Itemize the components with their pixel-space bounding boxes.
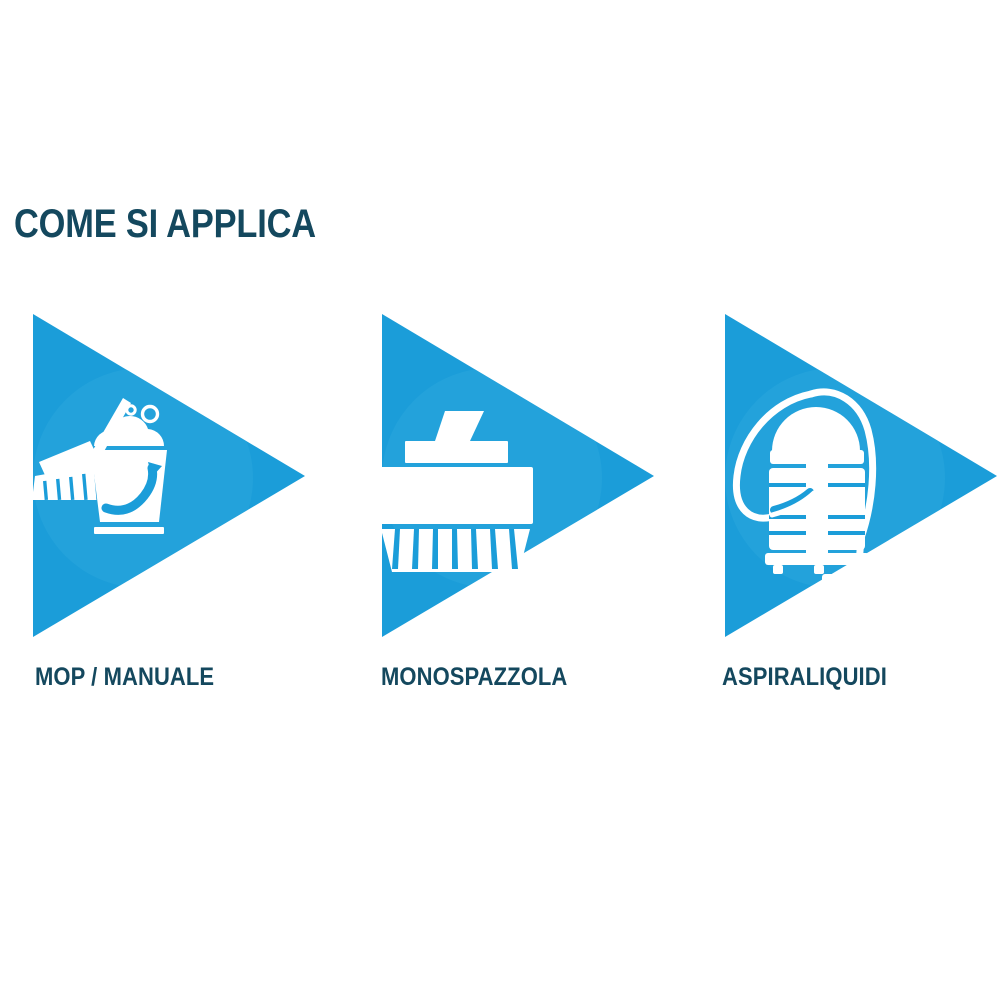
step-label-aspiraliquidi: ASPIRALIQUIDI — [722, 665, 986, 690]
step-item-aspiraliquidi[interactable]: ASPIRALIQUIDI — [710, 310, 1000, 710]
step-item-monospazzola[interactable]: MONOSPAZZOLA — [367, 310, 677, 710]
step-label-monospazzola: MONOSPAZZOLA — [381, 665, 645, 690]
steps-row: MOP / MANUALE — [0, 310, 1000, 710]
step-item-mop-manuale[interactable]: MOP / MANUALE — [18, 310, 328, 710]
step-arrow-shape-3 — [710, 310, 1000, 640]
step-label-mop-manuale: MOP / MANUALE — [35, 665, 299, 690]
step-arrow-shape-1 — [18, 310, 308, 640]
application-methods-infographic: COME SI APPLICA — [0, 0, 1000, 1000]
step-arrow-shape-2 — [367, 310, 657, 640]
page-title: COME SI APPLICA — [14, 203, 316, 245]
